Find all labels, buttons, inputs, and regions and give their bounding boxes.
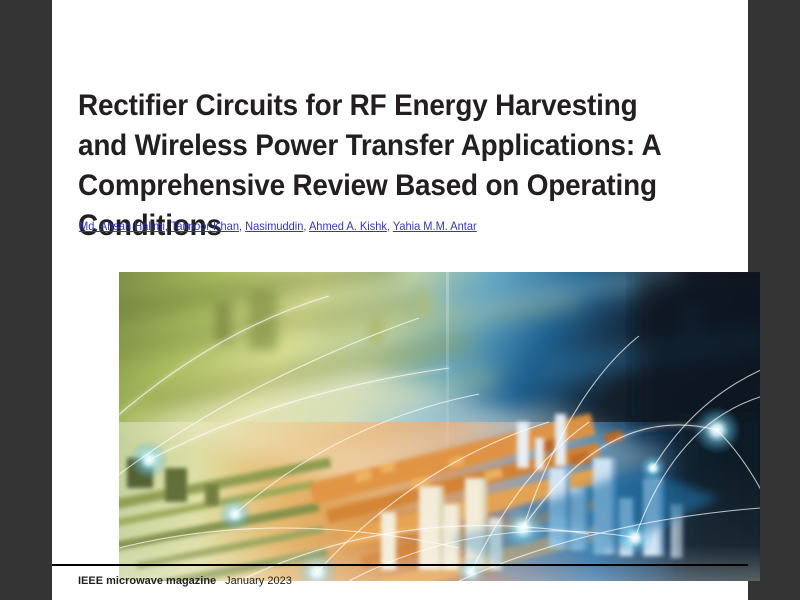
author-link-4[interactable]: Ahmed A. Kishk (309, 219, 387, 233)
footer-issue-date: January 2023 (225, 575, 292, 587)
footer-divider (52, 564, 748, 566)
hero-figure-graphic (119, 272, 760, 581)
author-list: Md. Ahsan Halimi, Taimoor Khan, Nasimudd… (79, 219, 668, 233)
footer-magazine-name: IEEE microwave magazine (78, 575, 216, 587)
author-link-2[interactable]: Taimoor Khan (171, 219, 239, 233)
author-link-5[interactable]: Yahia M.M. Antar (393, 219, 477, 233)
author-link-1[interactable]: Md. Ahsan Halimi (79, 219, 165, 233)
document-page: Rectifier Circuits for RF Energy Harvest… (52, 0, 748, 600)
footer: IEEE microwave magazineJanuary 2023 (78, 574, 292, 588)
hero-figure-image (119, 272, 760, 581)
document-viewer: Rectifier Circuits for RF Energy Harvest… (0, 0, 800, 600)
author-link-3[interactable]: Nasimuddin (245, 219, 303, 233)
